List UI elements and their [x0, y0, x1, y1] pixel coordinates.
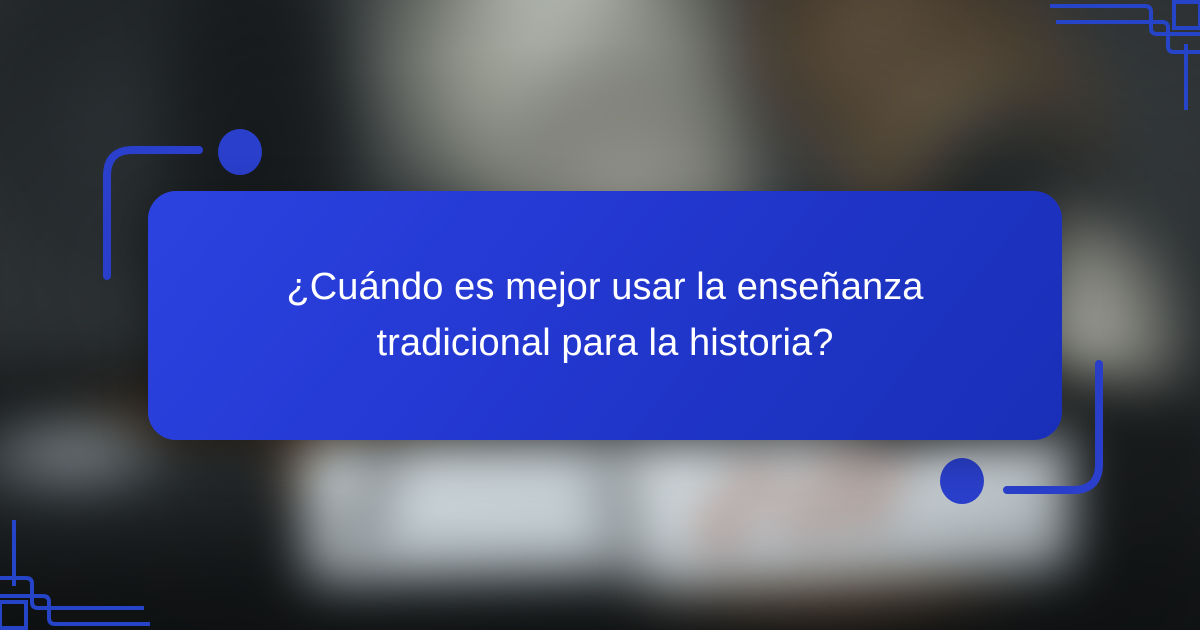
bg-paper-mark: [840, 488, 888, 528]
bg-paper-mark: [730, 460, 778, 500]
bg-paper-mark: [780, 496, 832, 536]
bg-paper-mark: [812, 446, 856, 484]
card-title: ¿Cuándo es mejor usar la enseñanza tradi…: [204, 260, 1006, 371]
bg-paper-mark: [692, 506, 748, 548]
social-card-canvas: ¿Cuándo es mejor usar la enseñanza tradi…: [0, 0, 1200, 630]
bg-paper-mark: [866, 452, 908, 488]
question-card: ¿Cuándo es mejor usar la enseñanza tradi…: [148, 191, 1062, 440]
